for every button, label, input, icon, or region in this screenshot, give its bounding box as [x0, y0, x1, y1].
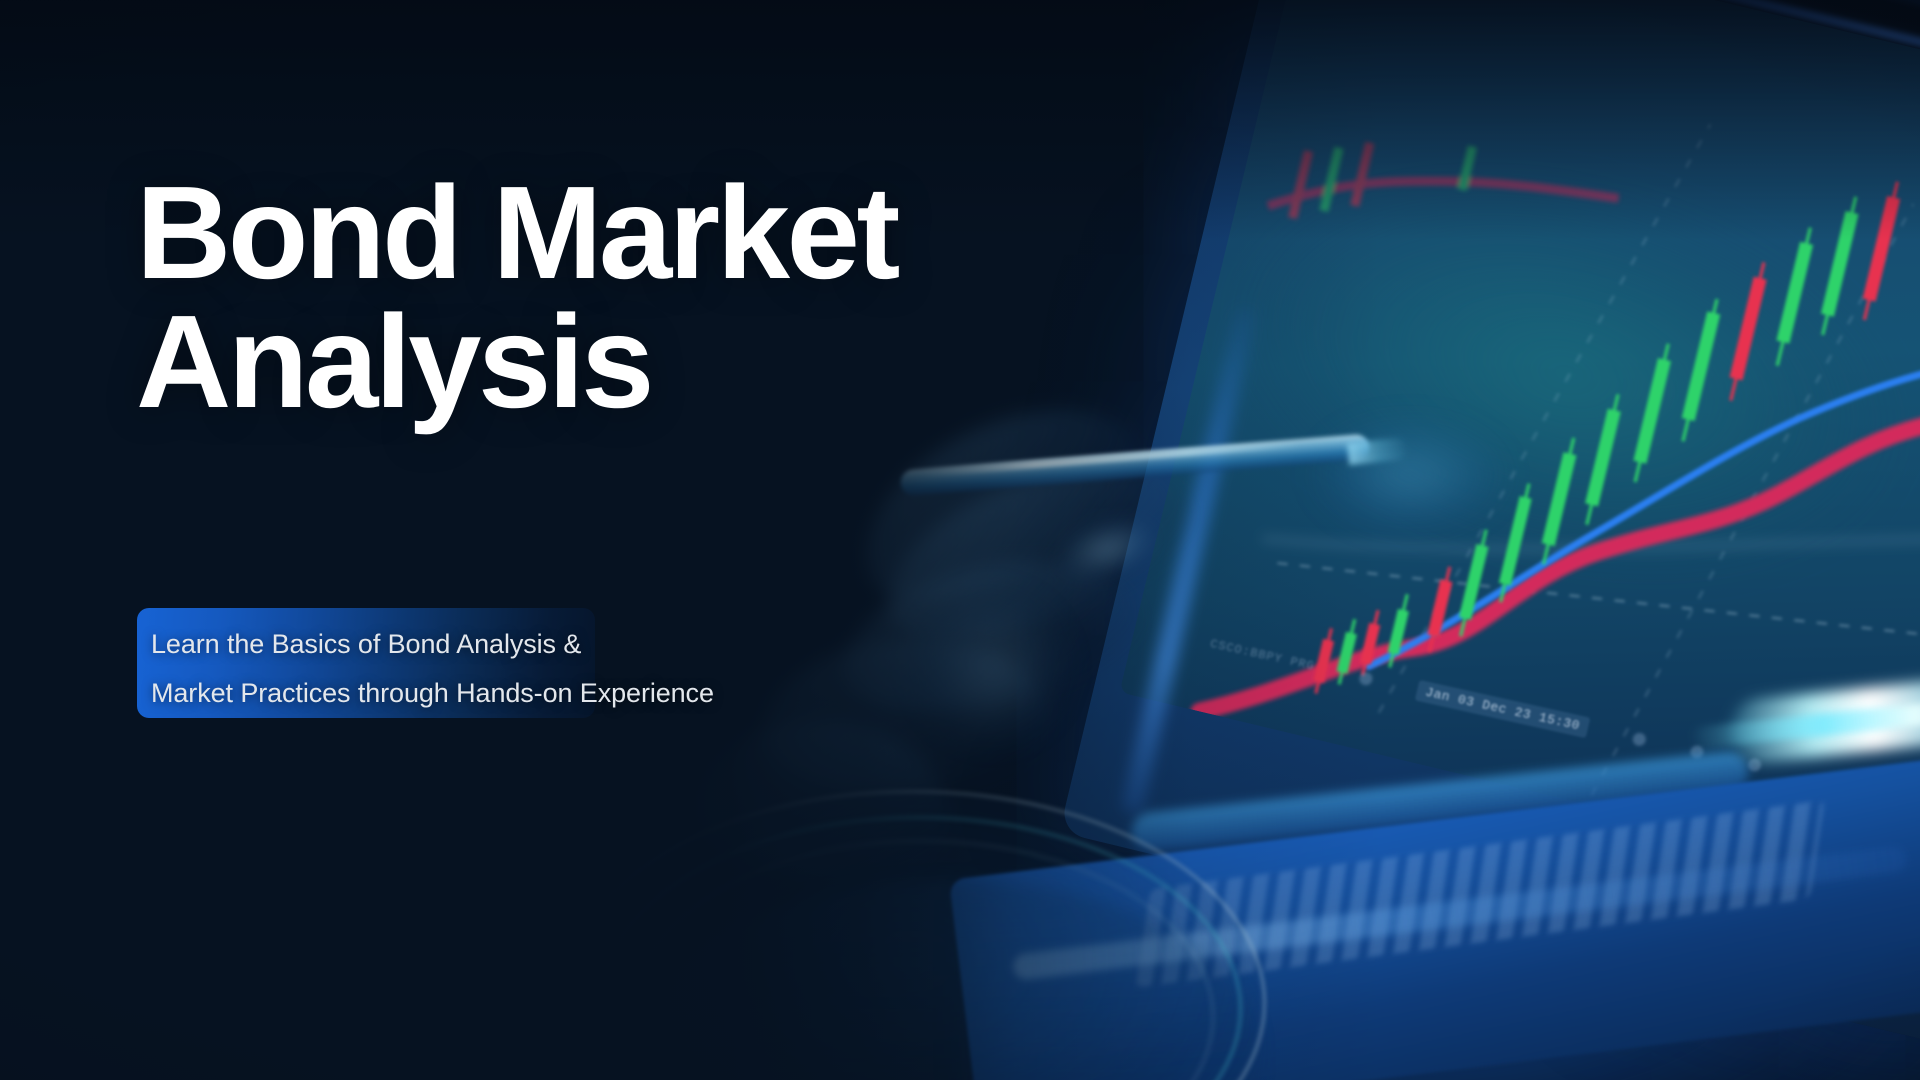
subtitle-text: Learn the Basics of Bond Analysis & Mark…	[151, 620, 1051, 718]
hero-banner: CSCO:BBPY PRG Jan 03 Dec 23 15:30	[0, 0, 1920, 1080]
chart-secondary-mini	[1267, 103, 1623, 291]
page-title: Bond Market Analysis	[136, 168, 1186, 427]
hero-text-block: Bond Market Analysis	[136, 168, 1186, 427]
toolbar-dot-icon	[1632, 732, 1648, 747]
toolbar-dot-icon	[1358, 671, 1374, 686]
stylus-glow	[1280, 400, 1540, 550]
